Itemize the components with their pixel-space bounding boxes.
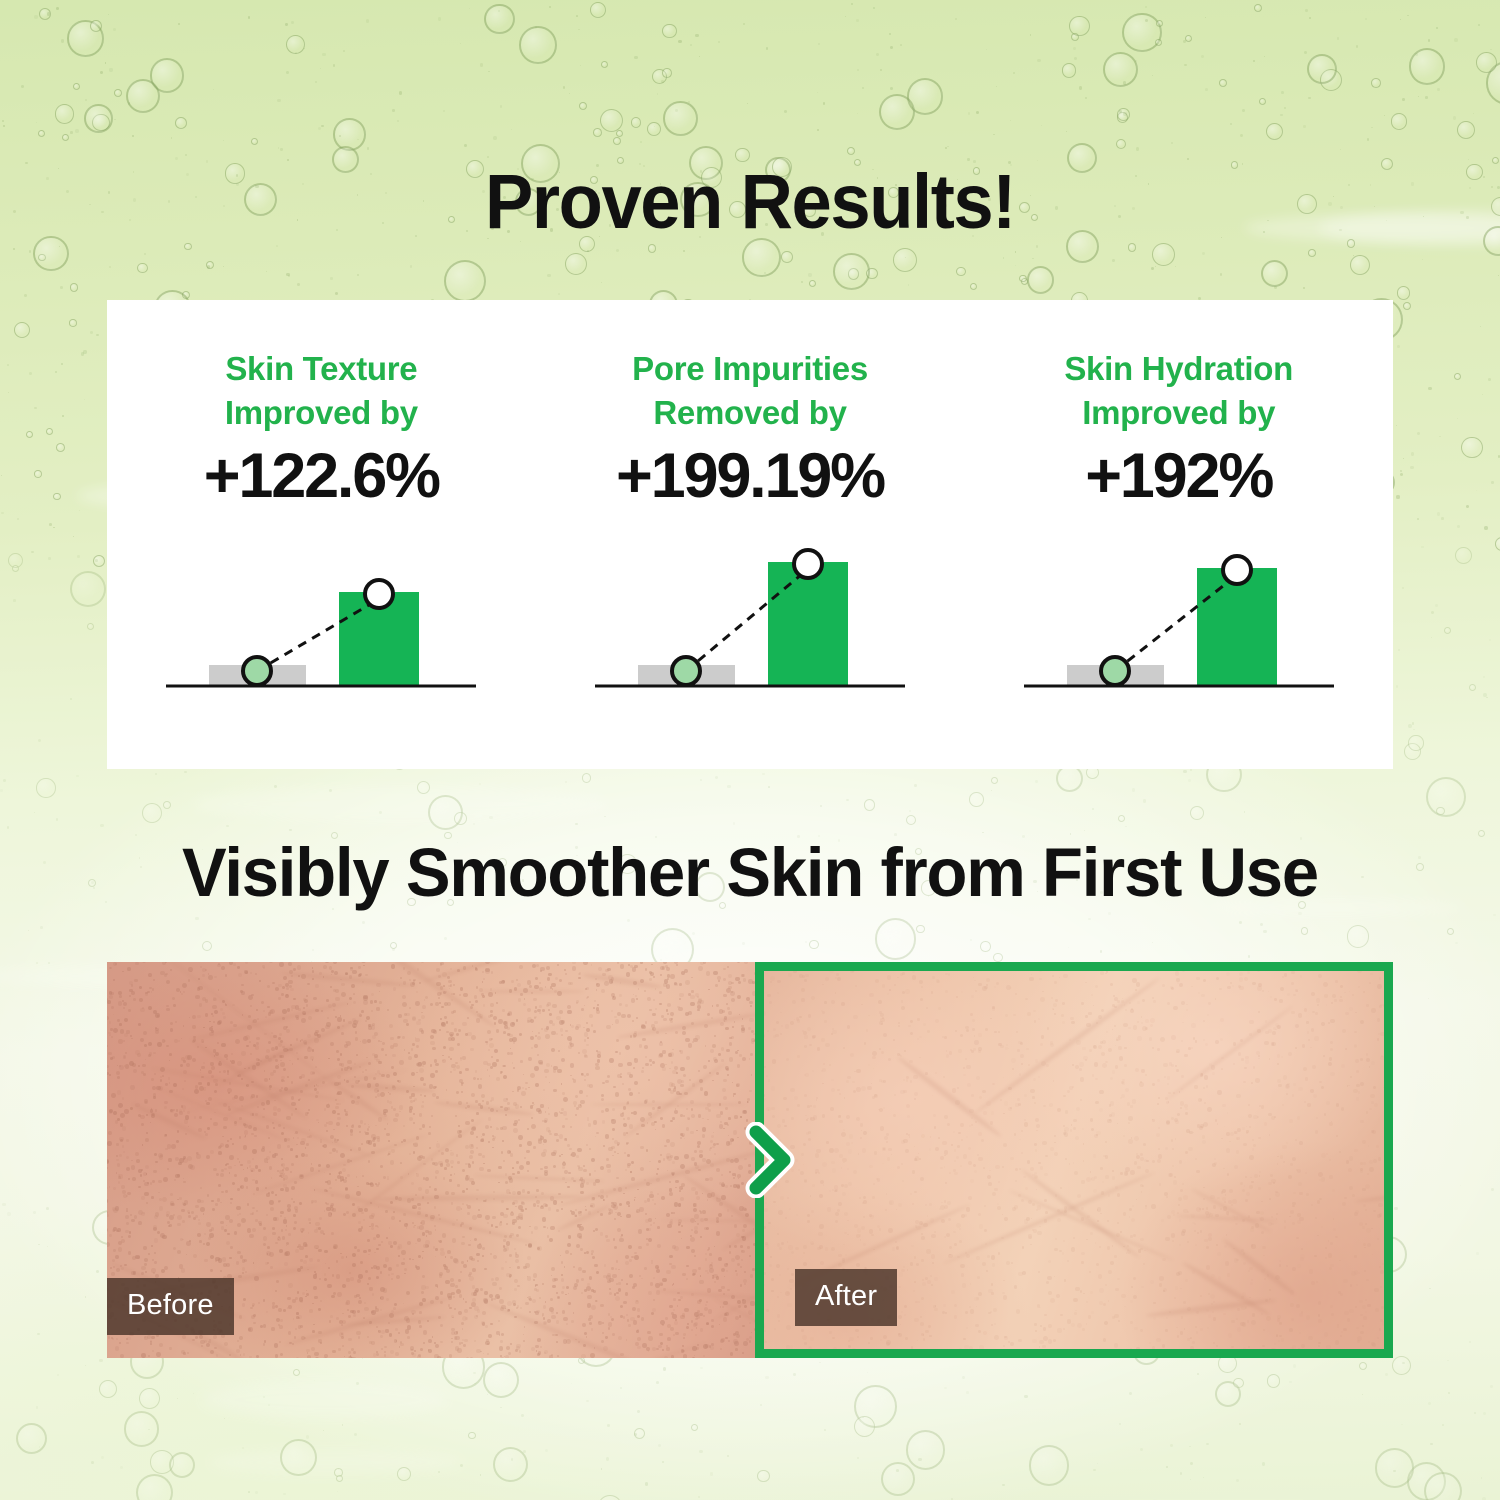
proven-results-card: Skin Texture Improved by +122.6% Pore Im… <box>107 300 1393 769</box>
stat-label: Skin Hydration Improved by <box>1064 347 1293 435</box>
mini-bar-chart-skin-texture <box>161 538 481 713</box>
stat-label: Pore Impurities Removed by <box>632 347 868 435</box>
stat-value: +122.6% <box>204 445 439 508</box>
stat-column-pore-impurities: Pore Impurities Removed by +199.19% <box>536 300 965 769</box>
mini-bar-chart-pore-impurities <box>590 538 910 713</box>
section-subtitle: Visibly Smoother Skin from First Use <box>23 833 1478 912</box>
marker-before <box>1101 657 1129 685</box>
marker-after <box>365 580 393 608</box>
chevron-right-icon <box>740 1122 800 1198</box>
mini-bar-chart-skin-hydration <box>1019 538 1339 713</box>
after-label: After <box>795 1269 897 1326</box>
marker-after <box>794 550 822 578</box>
before-after-comparison: Before After <box>107 962 1393 1358</box>
bar-after <box>768 562 848 685</box>
stat-label: Skin Texture Improved by <box>225 347 418 435</box>
page-title: Proven Results! <box>45 158 1455 247</box>
marker-before <box>672 657 700 685</box>
marker-after <box>1223 556 1251 584</box>
infographic-page: Proven Results! Skin Texture Improved by… <box>0 0 1500 1500</box>
after-image-panel: After <box>755 962 1393 1358</box>
stats-row: Skin Texture Improved by +122.6% Pore Im… <box>107 300 1393 769</box>
stat-column-skin-hydration: Skin Hydration Improved by +192% <box>964 300 1393 769</box>
stat-column-skin-texture: Skin Texture Improved by +122.6% <box>107 300 536 769</box>
before-label: Before <box>107 1278 234 1335</box>
before-image-panel: Before <box>107 962 755 1358</box>
marker-before <box>243 657 271 685</box>
stat-value: +192% <box>1085 445 1272 508</box>
stat-value: +199.19% <box>616 445 884 508</box>
